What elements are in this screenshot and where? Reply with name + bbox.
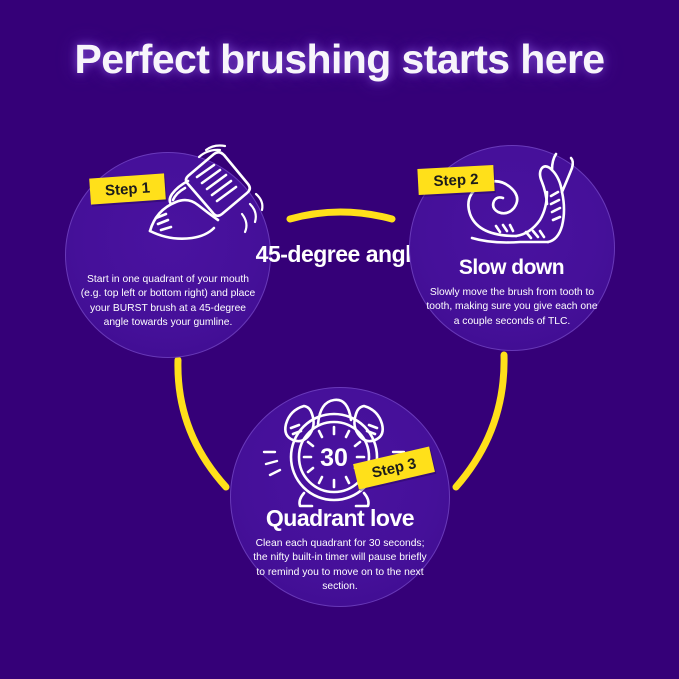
infographic-canvas: Perfect brushing starts here: [0, 0, 679, 679]
clock-value: 30: [320, 444, 348, 472]
step-2-body: Slowly move the brush from tooth to toot…: [423, 286, 601, 329]
arc-step1-to-step2: [290, 212, 392, 219]
step-1-body: Start in one quadrant of your mouth (e.g…: [78, 273, 258, 331]
step-3-headline: Quadrant love: [170, 505, 510, 532]
step-2-headline: Slow down: [344, 256, 679, 280]
arc-step1-to-step3: [178, 360, 226, 487]
step-1-badge: Step 1: [89, 173, 166, 204]
alarm-clock-icon: 30: [258, 394, 423, 509]
step-2-badge: Step 2: [417, 165, 494, 195]
step-3-body: Clean each quadrant for 30 seconds; the …: [248, 537, 432, 595]
arc-step2-to-step3: [456, 355, 504, 487]
